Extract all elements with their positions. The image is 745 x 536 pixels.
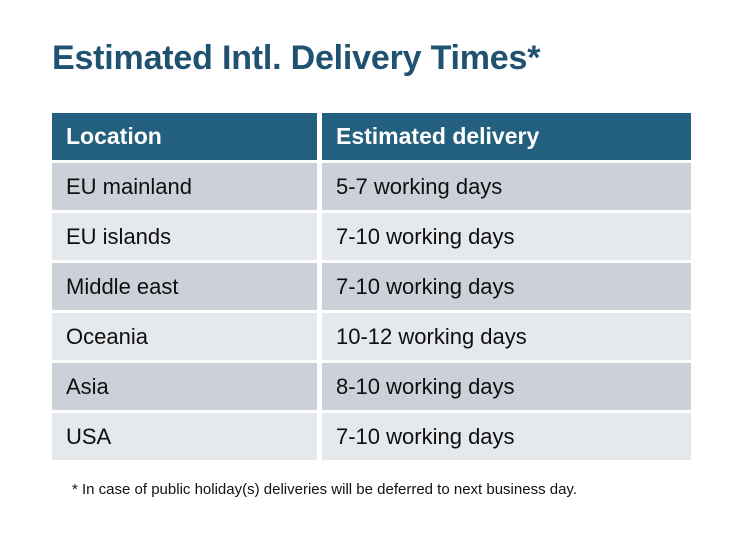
cell-estimated-delivery: 10-12 working days bbox=[322, 313, 691, 360]
delivery-times-table: Location Estimated delivery EU mainland … bbox=[52, 113, 691, 463]
cell-estimated-delivery: 7-10 working days bbox=[322, 213, 691, 260]
cell-location: Middle east bbox=[52, 263, 317, 310]
cell-location: Asia bbox=[52, 363, 317, 410]
footnote-text: * In case of public holiday(s) deliverie… bbox=[72, 480, 577, 500]
table-row: Middle east 7-10 working days bbox=[52, 263, 691, 310]
cell-estimated-delivery: 8-10 working days bbox=[322, 363, 691, 410]
table-row: Oceania 10-12 working days bbox=[52, 313, 691, 360]
cell-location: EU mainland bbox=[52, 163, 317, 210]
cell-location: USA bbox=[52, 413, 317, 460]
cell-estimated-delivery: 5-7 working days bbox=[322, 163, 691, 210]
cell-estimated-delivery: 7-10 working days bbox=[322, 263, 691, 310]
table-row: EU islands 7-10 working days bbox=[52, 213, 691, 260]
column-header-location: Location bbox=[52, 113, 317, 160]
column-header-estimated-delivery: Estimated delivery bbox=[322, 113, 691, 160]
page-title: Estimated Intl. Delivery Times* bbox=[52, 36, 540, 80]
delivery-times-page: Estimated Intl. Delivery Times* Location… bbox=[0, 0, 745, 536]
cell-location: Oceania bbox=[52, 313, 317, 360]
table-row: EU mainland 5-7 working days bbox=[52, 163, 691, 210]
cell-estimated-delivery: 7-10 working days bbox=[322, 413, 691, 460]
table-row: Asia 8-10 working days bbox=[52, 363, 691, 410]
table-row: USA 7-10 working days bbox=[52, 413, 691, 460]
cell-location: EU islands bbox=[52, 213, 317, 260]
table-header-row: Location Estimated delivery bbox=[52, 113, 691, 160]
